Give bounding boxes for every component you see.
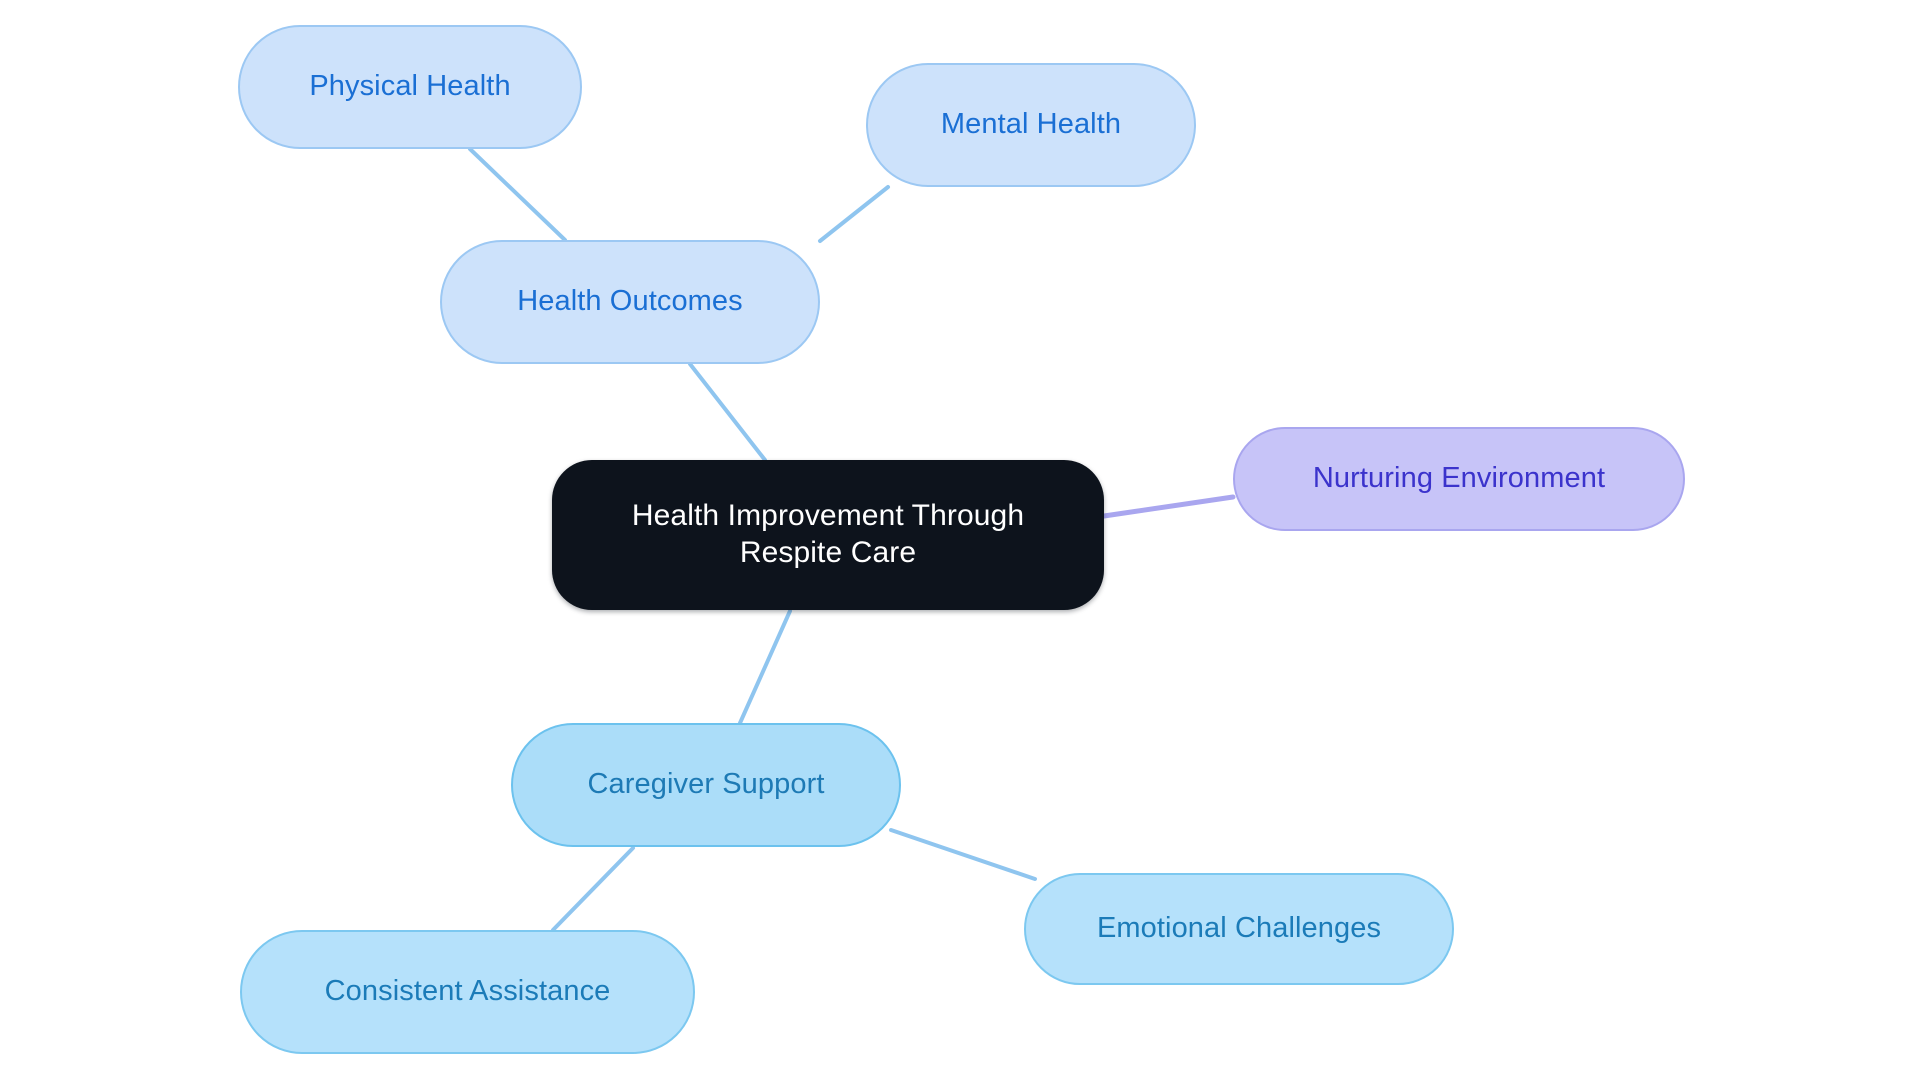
edge-caregiver-support-emotional-challenges [891,830,1035,879]
edge-root-health-outcomes [690,364,765,460]
node-label: Health Improvement Through Respite Care [632,498,1024,571]
node-label: Caregiver Support [587,767,824,802]
node-label: Physical Health [309,69,510,104]
node-physical-health[interactable]: Physical Health [238,25,582,149]
node-consistent-assistance[interactable]: Consistent Assistance [240,930,695,1054]
node-caregiver-support[interactable]: Caregiver Support [511,723,901,847]
edge-health-outcomes-physical-health [470,149,565,240]
node-nurturing-environment[interactable]: Nurturing Environment [1233,427,1685,531]
edge-caregiver-support-consistent-assistance [553,848,633,930]
mindmap-canvas: Physical HealthMental HealthHealth Outco… [0,0,1920,1083]
node-label: Emotional Challenges [1097,911,1381,946]
node-label: Health Outcomes [517,284,743,319]
edge-root-nurturing-environment [1104,497,1233,516]
node-label: Nurturing Environment [1313,461,1605,496]
node-mental-health[interactable]: Mental Health [866,63,1196,187]
node-health-outcomes[interactable]: Health Outcomes [440,240,820,364]
node-label: Consistent Assistance [325,974,611,1009]
node-root[interactable]: Health Improvement Through Respite Care [552,460,1104,610]
node-label: Mental Health [941,107,1121,142]
edge-health-outcomes-mental-health [820,187,888,241]
node-emotional-challenges[interactable]: Emotional Challenges [1024,873,1454,985]
edge-root-caregiver-support [740,611,790,723]
